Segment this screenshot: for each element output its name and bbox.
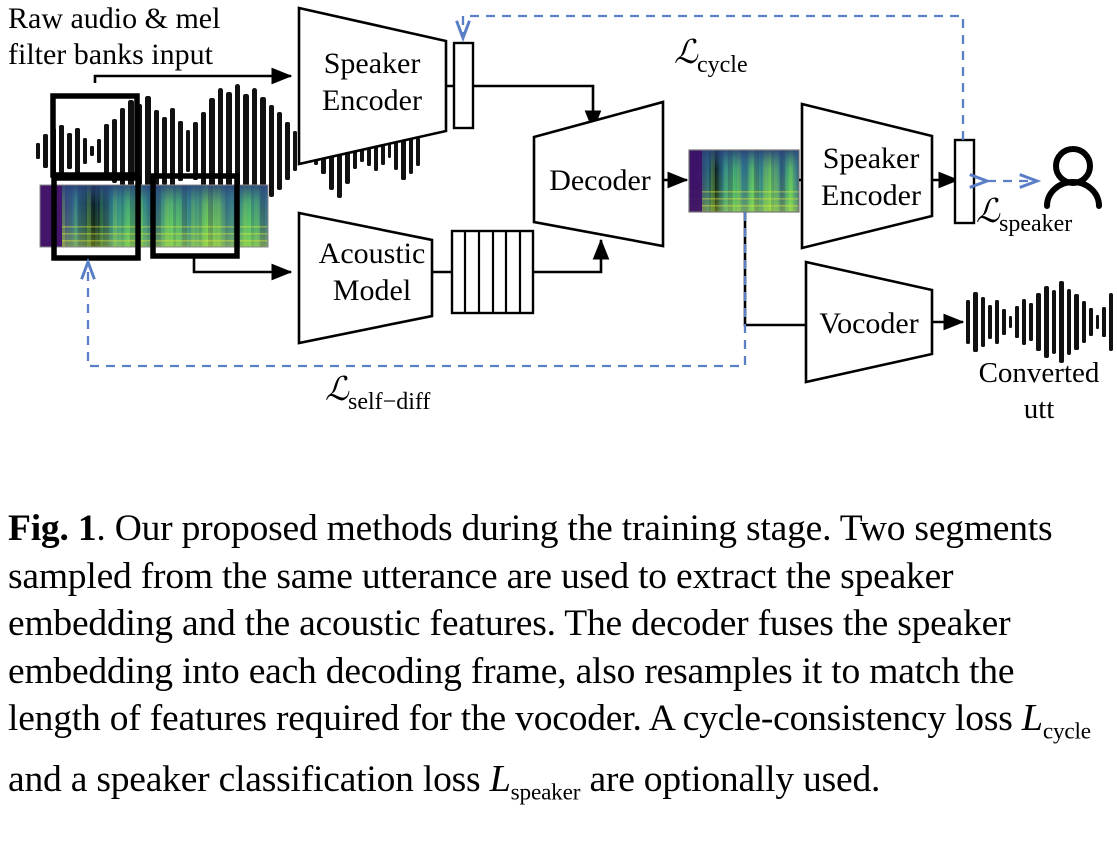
speaker-encoder-right-label-line2: Encoder (821, 179, 921, 212)
acoustic-model-label-line1: Acoustic (319, 237, 426, 270)
speaker-encoder-right-label-line1: Speaker (823, 142, 920, 175)
caption-text-part-1: . Our proposed methods during the traini… (8, 508, 1052, 739)
dashed-path-cycle-loss (463, 16, 963, 140)
speaker-identity-icon (1047, 149, 1099, 206)
caption-text-part-3: are optionally used. (580, 759, 880, 800)
vocoder-label: Vocoder (819, 307, 918, 340)
arrow-mel-to-acoustic-model (194, 258, 291, 272)
line-embedding-to-decoder (473, 86, 593, 130)
speaker-encoder-top-label-line1: Speaker (324, 47, 421, 80)
acoustic-model-label-line2: Model (333, 274, 411, 307)
acoustic-feature-frames (452, 231, 533, 313)
svg-text:ℒ: ℒ (325, 372, 350, 408)
caption-loss-speaker-sub: speaker (511, 780, 581, 806)
loss-cycle-label: ℒ cycle (674, 35, 748, 78)
converted-utt-label-line2: utt (1024, 393, 1055, 425)
output-mel-spectrogram (689, 150, 799, 212)
block-speaker-encoder-right[interactable]: Speaker Encoder (802, 104, 932, 248)
svg-text:self−diff: self−diff (348, 389, 430, 415)
speaker-embedding-box-top (454, 43, 473, 128)
block-acoustic-model[interactable]: Acoustic Model (299, 213, 432, 343)
block-decoder[interactable]: Decoder (534, 102, 663, 246)
input-label-line1: Raw audio & mel (8, 2, 220, 35)
converted-waveform (966, 281, 1113, 363)
block-vocoder[interactable]: Vocoder (806, 262, 932, 382)
speaker-embedding-box-right (955, 140, 974, 223)
svg-text:ℒ: ℒ (674, 35, 699, 71)
input-label-line2: filter banks input (8, 38, 214, 71)
decoder-label: Decoder (549, 164, 651, 197)
architecture-diagram: Raw audio & mel filter banks input (0, 0, 1117, 470)
converted-utt-label-line1: Converted (979, 357, 1100, 389)
caption-text-part-2: and a speaker classi­fication loss (8, 759, 490, 800)
caption-figure-number: Fig. 1 (8, 508, 96, 549)
figure-page: Raw audio & mel filter banks input (0, 0, 1117, 857)
block-speaker-encoder-top[interactable]: Speaker Encoder (299, 8, 446, 164)
figure-caption: Fig. 1. Our proposed methods during the … (8, 505, 1108, 817)
caption-loss-cycle-symbol: L (1022, 697, 1043, 739)
svg-text:speaker: speaker (999, 211, 1072, 237)
arrow-waveform-to-speaker-encoder (95, 76, 291, 83)
loss-self-diff-label: ℒ self−diff (325, 372, 430, 415)
caption-loss-speaker-symbol: L (490, 758, 511, 800)
caption-loss-cycle-sub: cycle (1043, 719, 1091, 745)
svg-text:cycle: cycle (697, 52, 748, 78)
svg-text:ℒ: ℒ (976, 194, 1001, 230)
speaker-encoder-top-label-line2: Encoder (322, 84, 422, 117)
line-frames-to-decoder (533, 240, 601, 272)
loss-speaker-label: ℒ speaker (976, 194, 1072, 237)
